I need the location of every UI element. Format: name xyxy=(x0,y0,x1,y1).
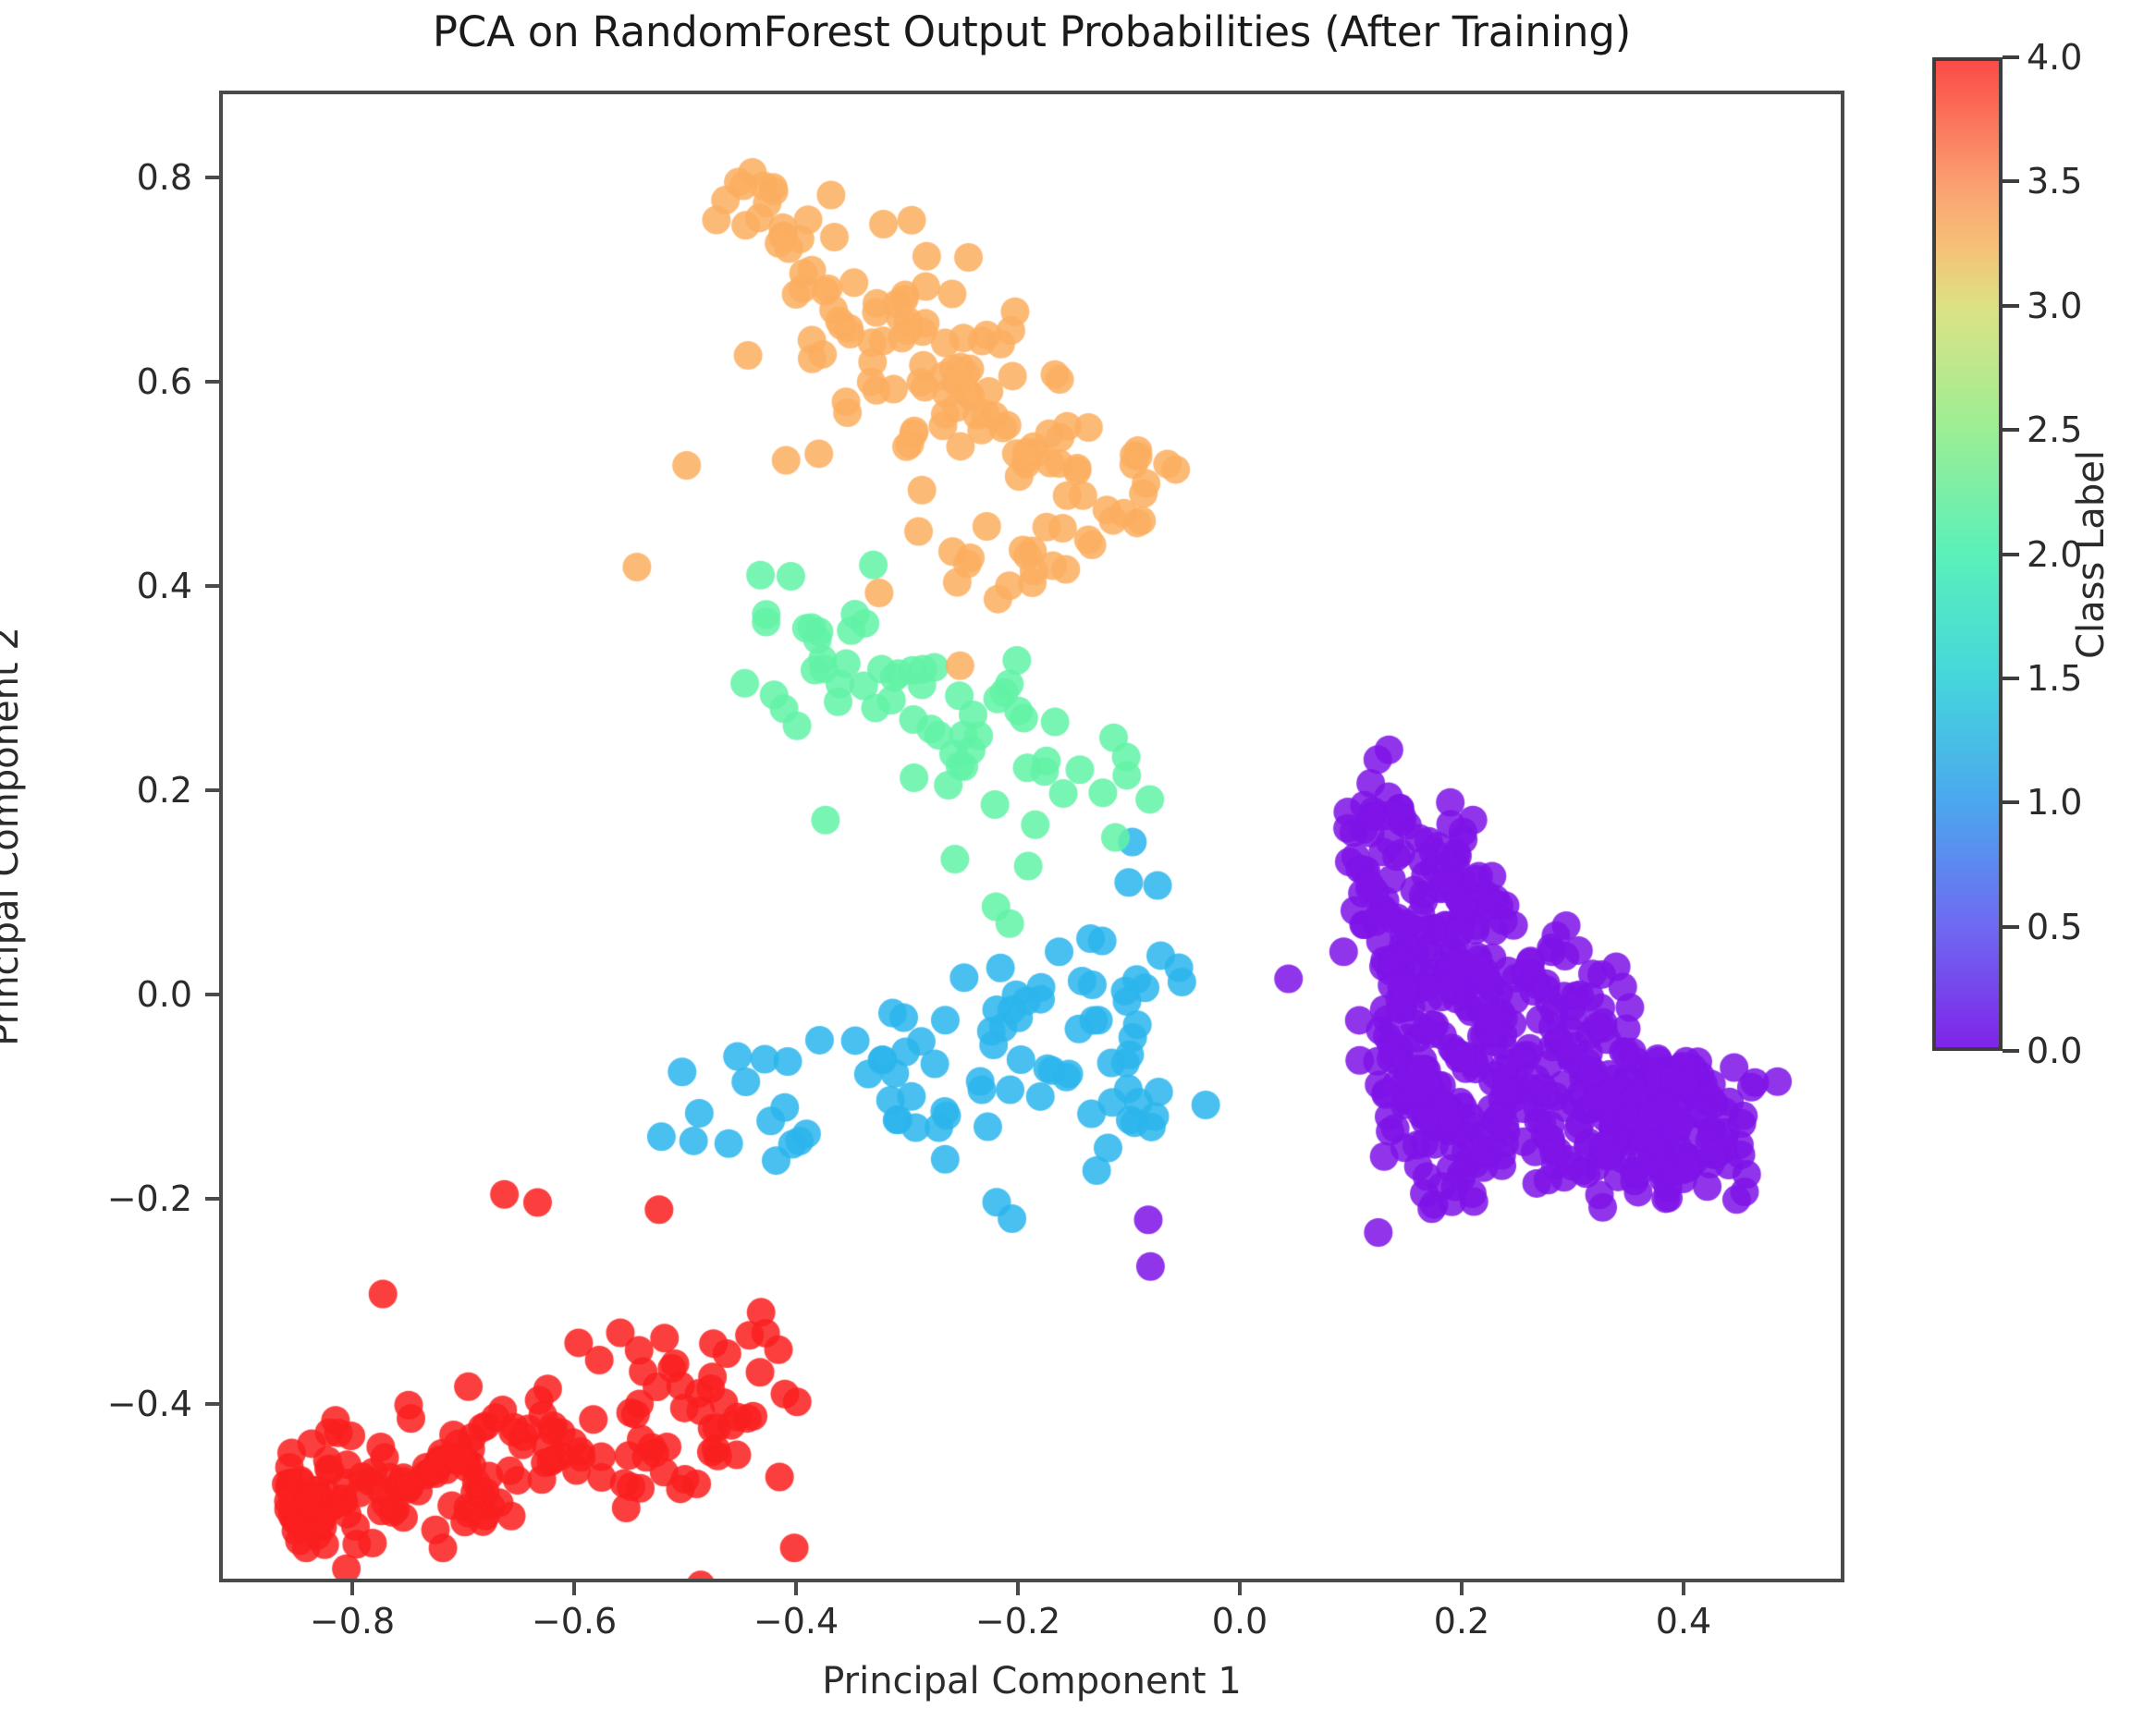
x-tick-label: 0.4 xyxy=(1656,1601,1711,1641)
y-axis-title: Principal Component 2 xyxy=(0,627,27,1046)
colorbar-tick-mark xyxy=(2003,304,2019,308)
y-tick-label: 0.6 xyxy=(0,361,192,402)
x-tick-label: 0.0 xyxy=(1212,1601,1268,1641)
colorbar-tick-label: 1.5 xyxy=(2027,658,2082,699)
y-tick-mark xyxy=(205,380,222,384)
colorbar-tick-label: 1.0 xyxy=(2027,782,2082,823)
colorbar-title: Class Label xyxy=(2070,450,2113,659)
y-tick-mark xyxy=(205,1402,222,1406)
x-tick-mark xyxy=(572,1579,576,1595)
y-tick-label: 0.8 xyxy=(0,157,192,198)
y-tick-label: 0.2 xyxy=(0,770,192,811)
y-tick-mark xyxy=(205,584,222,588)
scatter-points-canvas xyxy=(223,94,1841,1579)
colorbar-tick-label: 0.5 xyxy=(2027,907,2082,947)
colorbar-tick-label: 4.0 xyxy=(2027,37,2082,78)
y-tick-label: 0.0 xyxy=(0,974,192,1015)
colorbar: 0.00.51.01.52.02.53.03.54.0 xyxy=(1932,57,2003,1051)
chart-figure: PCA on RandomForest Output Probabilities… xyxy=(0,0,2156,1733)
x-tick-mark xyxy=(794,1579,798,1595)
colorbar-tick-label: 3.5 xyxy=(2027,161,2082,201)
y-tick-mark xyxy=(205,176,222,179)
x-tick-label: −0.4 xyxy=(753,1601,839,1641)
y-tick-mark xyxy=(205,993,222,996)
y-tick-label: −0.2 xyxy=(0,1178,192,1219)
x-tick-label: −0.8 xyxy=(310,1601,395,1641)
y-tick-label: −0.4 xyxy=(0,1384,192,1424)
x-tick-mark xyxy=(1238,1579,1242,1595)
colorbar-tick-mark xyxy=(2003,1049,2019,1053)
colorbar-tick-label: 3.0 xyxy=(2027,286,2082,326)
x-tick-label: 0.2 xyxy=(1434,1601,1489,1641)
colorbar-tick-label: 2.5 xyxy=(2027,409,2082,450)
x-axis-title: Principal Component 1 xyxy=(219,1660,1844,1702)
colorbar-tick-mark xyxy=(2003,55,2019,59)
y-tick-label: 0.4 xyxy=(0,566,192,606)
scatter-plot-area xyxy=(219,91,1844,1582)
x-tick-label: −0.6 xyxy=(532,1601,617,1641)
colorbar-tick-mark xyxy=(2003,553,2019,556)
chart-title: PCA on RandomForest Output Probabilities… xyxy=(219,7,1844,56)
x-tick-mark xyxy=(350,1579,354,1595)
y-tick-mark xyxy=(205,788,222,792)
colorbar-tick-mark xyxy=(2003,925,2019,929)
x-tick-mark xyxy=(1460,1579,1464,1595)
colorbar-tick-mark xyxy=(2003,179,2019,183)
colorbar-tick-mark xyxy=(2003,677,2019,680)
colorbar-gradient xyxy=(1932,57,2003,1051)
x-tick-mark xyxy=(1682,1579,1685,1595)
colorbar-tick-mark xyxy=(2003,800,2019,804)
x-tick-label: −0.2 xyxy=(975,1601,1060,1641)
y-tick-mark xyxy=(205,1197,222,1201)
colorbar-tick-label: 0.0 xyxy=(2027,1031,2082,1071)
x-tick-mark xyxy=(1016,1579,1020,1595)
colorbar-tick-mark xyxy=(2003,428,2019,432)
